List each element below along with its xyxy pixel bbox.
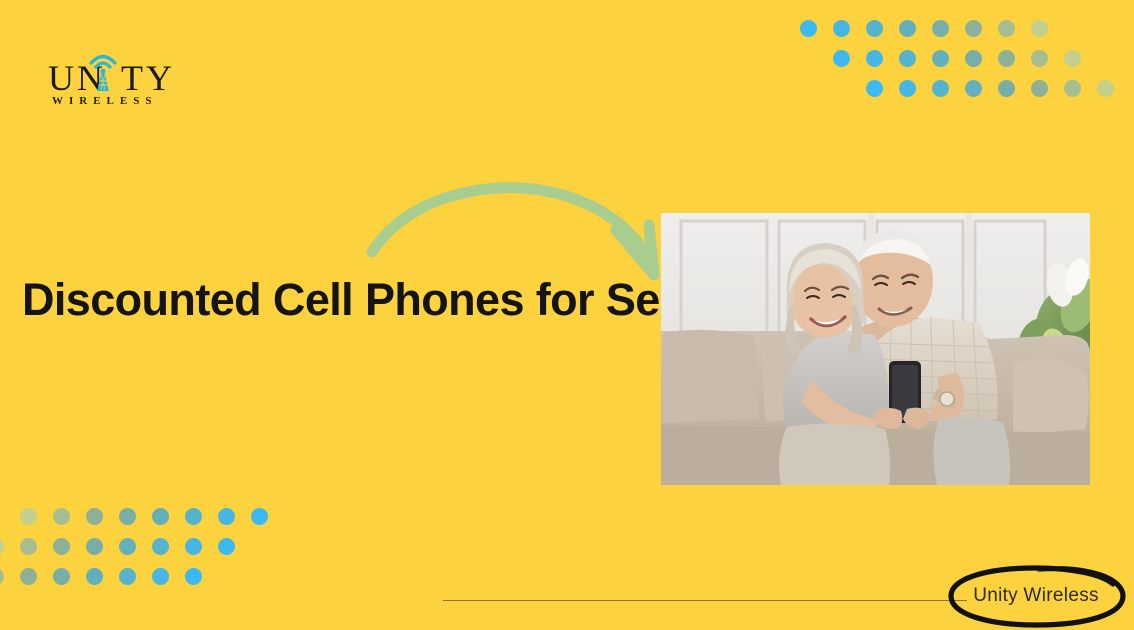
decorative-dot [1031, 80, 1048, 97]
logo-subtitle: WIRELESS [52, 95, 157, 107]
decorative-dot [86, 538, 103, 555]
decorative-dot [1064, 50, 1081, 67]
promo-banner: UNITY WIRELESS Discounted Cell Phones fo… [0, 0, 1134, 630]
decorative-dot [998, 80, 1015, 97]
decorative-dot [0, 538, 4, 555]
decorative-dot [119, 538, 136, 555]
decorative-dot [20, 568, 37, 585]
decorative-dot [932, 50, 949, 67]
decorative-dot [866, 80, 883, 97]
decorative-dot [53, 538, 70, 555]
unity-wireless-circled-badge[interactable]: Unity Wireless [943, 563, 1129, 629]
decorative-dot [932, 20, 949, 37]
decorative-dot [932, 80, 949, 97]
decorative-dot [152, 538, 169, 555]
bottom-divider-rule [443, 600, 967, 601]
decorative-dot [86, 508, 103, 525]
decorative-dot [53, 508, 70, 525]
decorative-dot [218, 538, 235, 555]
decorative-dot [833, 20, 850, 37]
decorative-dot [218, 508, 235, 525]
dot-grid-top-right [800, 20, 1120, 110]
decorative-dot [119, 568, 136, 585]
decorative-dot [251, 508, 268, 525]
decorative-dot [0, 568, 4, 585]
decorative-dot [20, 508, 37, 525]
decorative-dot [1031, 50, 1048, 67]
decorative-dot [800, 20, 817, 37]
decorative-dot [185, 508, 202, 525]
decorative-dot [20, 538, 37, 555]
decorative-dot [899, 50, 916, 67]
logo-wordmark-right: TY [121, 58, 175, 98]
decorative-dot [866, 50, 883, 67]
decorative-dot [86, 568, 103, 585]
decorative-dot [965, 50, 982, 67]
decorative-dot [1097, 80, 1114, 97]
decorative-dot [1064, 80, 1081, 97]
decorative-dot [998, 50, 1015, 67]
badge-label: Unity Wireless [943, 563, 1129, 629]
dot-grid-bottom-left [20, 508, 340, 598]
decorative-dot [1031, 20, 1048, 37]
decorative-dot [899, 80, 916, 97]
decorative-dot [866, 20, 883, 37]
decorative-dot [152, 568, 169, 585]
wireless-tower-icon [87, 48, 119, 92]
curved-arrow-icon [366, 176, 676, 291]
decorative-dot [833, 50, 850, 67]
senior-couple-with-smartphone-photo [661, 213, 1090, 485]
decorative-dot [998, 20, 1015, 37]
decorative-dot [965, 20, 982, 37]
decorative-dot [152, 508, 169, 525]
decorative-dot [53, 568, 70, 585]
unity-wireless-logo[interactable]: UNITY WIRELESS [48, 48, 248, 106]
decorative-dot [185, 538, 202, 555]
decorative-dot [965, 80, 982, 97]
decorative-dot [899, 20, 916, 37]
decorative-dot [119, 508, 136, 525]
decorative-dot [185, 568, 202, 585]
